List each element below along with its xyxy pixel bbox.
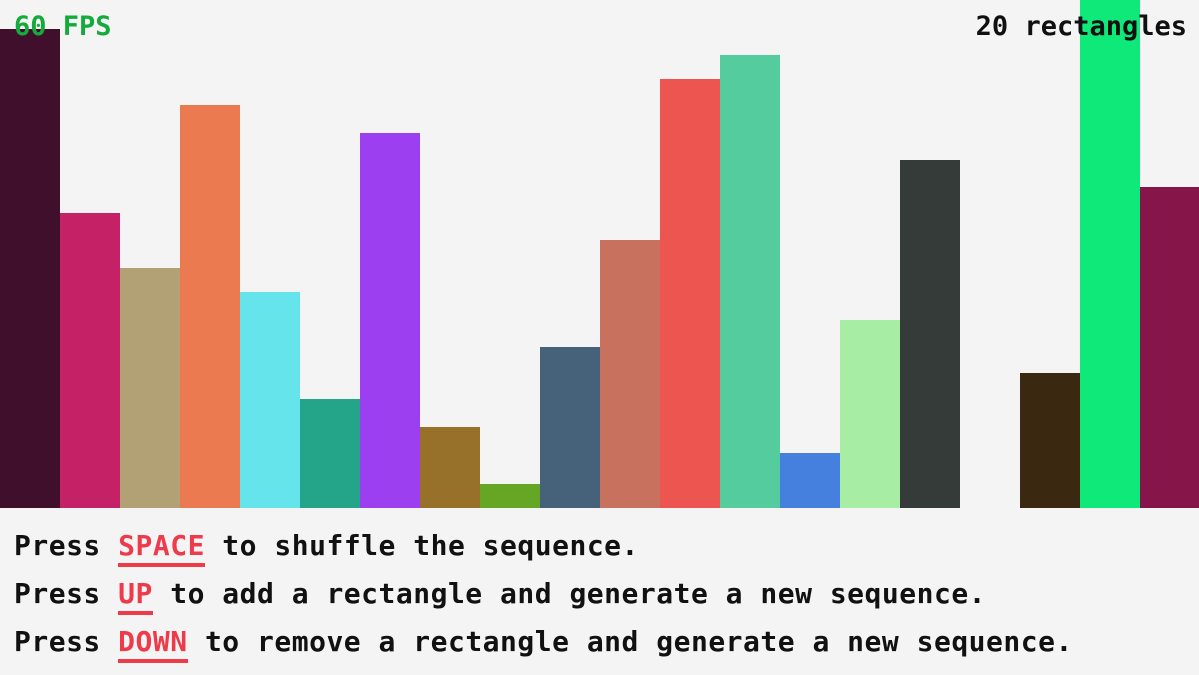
- chart-bar: [720, 55, 780, 508]
- instruction-prefix: Press: [14, 577, 118, 610]
- rectangle-chart: [0, 0, 1199, 508]
- chart-bar: [360, 133, 420, 508]
- instruction-prefix: Press: [14, 529, 118, 562]
- instruction-key-space[interactable]: SPACE: [118, 529, 205, 567]
- chart-bar: [1020, 373, 1080, 508]
- chart-bar: [1080, 0, 1140, 508]
- instruction-suffix: to add a rectangle and generate a new se…: [153, 577, 986, 610]
- chart-bar: [60, 213, 120, 508]
- chart-bar: [0, 29, 60, 508]
- chart-bar: [840, 320, 900, 508]
- chart-bar: [660, 79, 720, 508]
- instruction-line: Press SPACE to shuffle the sequence.: [14, 522, 1199, 570]
- rectangle-count-label: 20 rectangles: [976, 13, 1187, 40]
- chart-bar: [420, 427, 480, 508]
- instruction-prefix: Press: [14, 625, 118, 658]
- chart-bar: [480, 484, 540, 508]
- instruction-suffix: to remove a rectangle and generate a new…: [188, 625, 1073, 658]
- instruction-line: Press DOWN to remove a rectangle and gen…: [14, 618, 1199, 666]
- chart-bar: [780, 453, 840, 508]
- instruction-key-down[interactable]: DOWN: [118, 625, 187, 663]
- instructions-panel: Press SPACE to shuffle the sequence.Pres…: [0, 508, 1199, 675]
- chart-bar: [600, 240, 660, 508]
- chart-bar: [180, 105, 240, 508]
- chart-bar: [120, 268, 180, 508]
- chart-bar: [300, 399, 360, 508]
- chart-bar: [540, 347, 600, 508]
- app-canvas: 60 FPS 20 rectangles Press SPACE to shuf…: [0, 0, 1199, 675]
- instruction-line: Press UP to add a rectangle and generate…: [14, 570, 1199, 618]
- instruction-key-up[interactable]: UP: [118, 577, 153, 615]
- fps-counter: 60 FPS: [14, 13, 112, 40]
- chart-bar: [240, 292, 300, 508]
- instruction-suffix: to shuffle the sequence.: [205, 529, 639, 562]
- chart-bar: [900, 160, 960, 508]
- chart-bar: [1140, 187, 1199, 508]
